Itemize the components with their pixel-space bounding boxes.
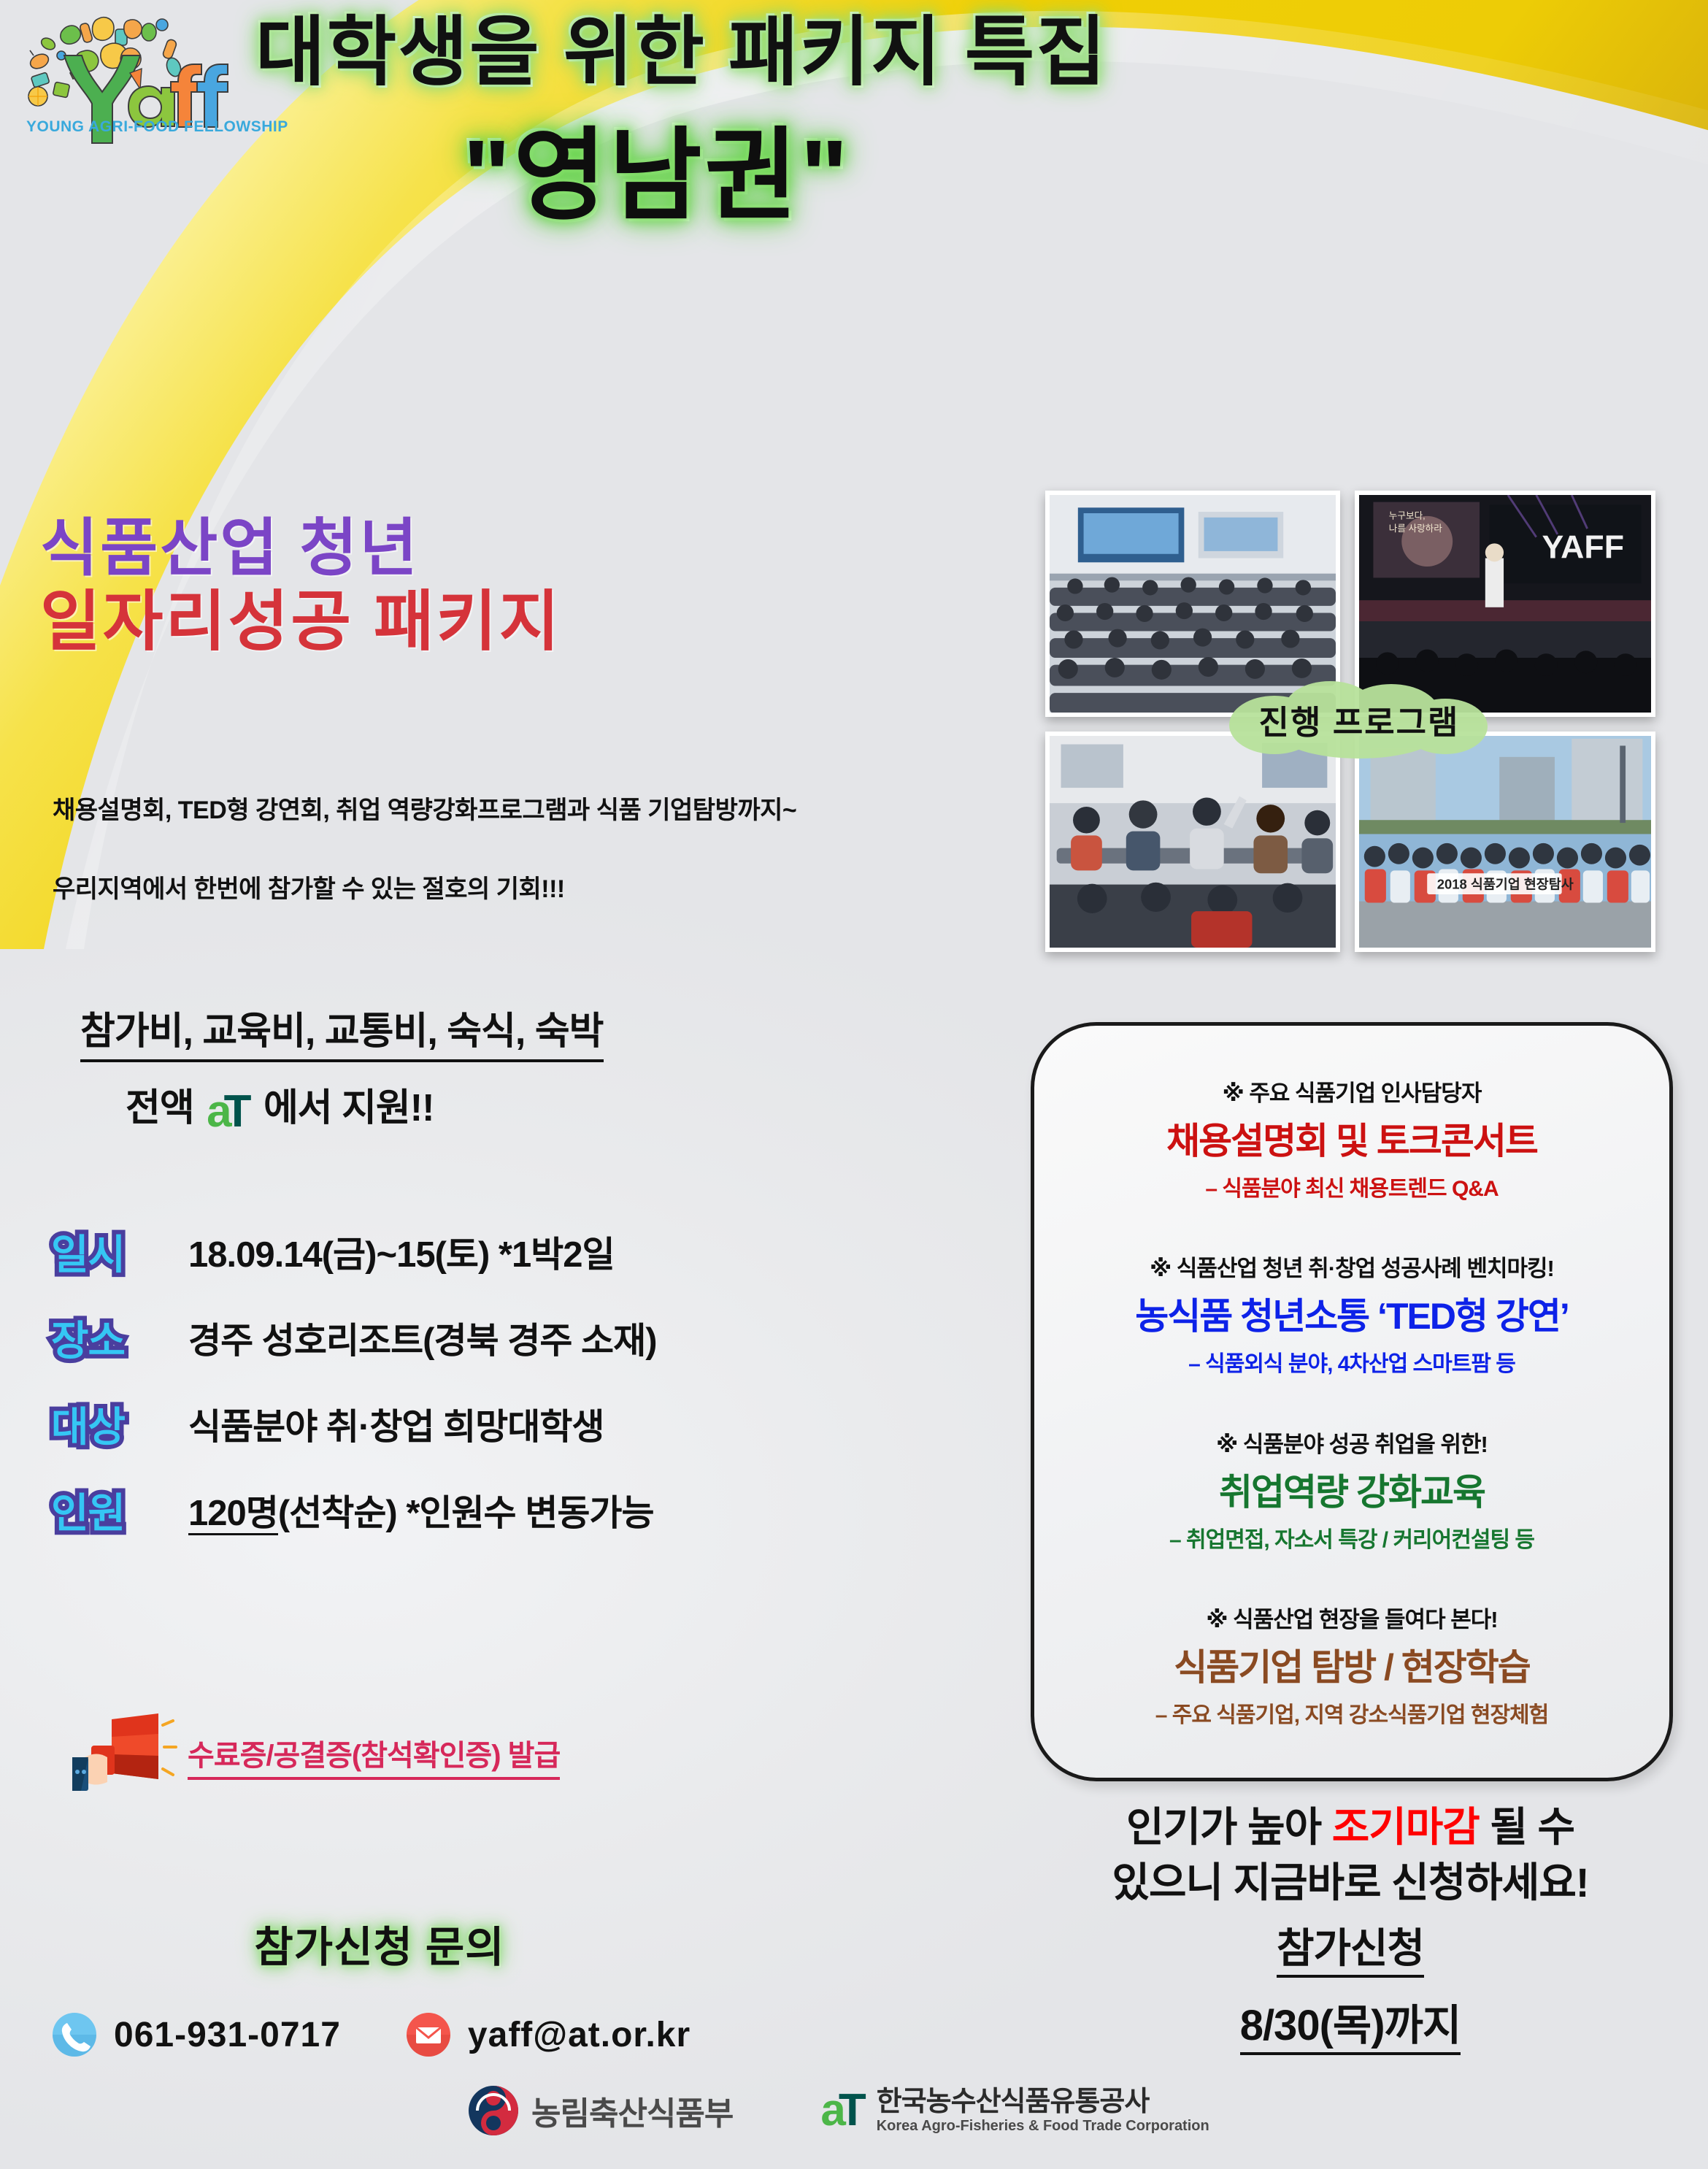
svg-text:YAFF: YAFF bbox=[1542, 530, 1624, 566]
program-sub-4: – 주요 식품기업, 지역 강소식품기업 현장체험 bbox=[1053, 1697, 1650, 1729]
apply-label: 참가신청 bbox=[1277, 1916, 1424, 1978]
deadline-prefix: 인기가 높아 bbox=[1126, 1804, 1332, 1850]
program-box: ※ 주요 식품기업 인사담당자 채용설명회 및 토크콘서트 – 식품분야 최신 … bbox=[1031, 1022, 1673, 1781]
info-row-date: 일시 18.09.14(금)~15(토) *1박2일 bbox=[51, 1208, 927, 1294]
svg-text:누구보다,: 누구보다, bbox=[1389, 511, 1426, 521]
capacity-count: 120명 bbox=[188, 1494, 278, 1535]
certificate-text: 수료증/공결증(참석확인증) 발급 bbox=[188, 1732, 560, 1780]
at-footer-mark: aT bbox=[820, 2088, 866, 2133]
certificate-notice: 수료증/공결증(참석확인증) 발급 bbox=[69, 1712, 560, 1800]
info-label-capacity: 인원 bbox=[51, 1481, 161, 1540]
photo-collage: 누구보다, 나를 사랑하라 YAFF bbox=[1045, 491, 1658, 958]
at-name-english: Korea Agro-Fisheries & Food Trade Corpor… bbox=[877, 2118, 1209, 2135]
apply-deadline-date: 8/30(목)까지 bbox=[1240, 1991, 1461, 2055]
description-line-2: 우리지역에서 한번에 참가할 수 있는 절호의 기회!!! bbox=[53, 869, 565, 905]
deadline-block: 인기가 높아 조기마감 될 수 있으니 지금바로 신청하세요! 참가신청 8/3… bbox=[1007, 1800, 1693, 2055]
program-item-recruitment: ※ 주요 식품기업 인사담당자 채용설명회 및 토크콘서트 – 식품분야 최신 … bbox=[1053, 1075, 1650, 1202]
phone-icon bbox=[51, 2011, 98, 2058]
contact-phone[interactable]: 061-931-0717 bbox=[51, 2011, 341, 2058]
deadline-line-2: 있으니 지금바로 신청하세요! bbox=[1007, 1855, 1693, 1911]
support-costs: 참가비, 교육비, 교통비, 숙식, 숙박 bbox=[80, 1000, 604, 1062]
capacity-note: (선착순) *인원수 변동가능 bbox=[278, 1494, 654, 1533]
info-value-date: 18.09.14(금)~15(토) *1박2일 bbox=[188, 1226, 615, 1278]
program-item-company-visit: ※ 식품산업 현장을 들여다 본다! 식품기업 탐방 / 현장학습 – 주요 식… bbox=[1053, 1601, 1650, 1729]
email-address: yaff@at.or.kr bbox=[468, 2015, 690, 2055]
info-value-capacity: 120명(선착순) *인원수 변동가능 bbox=[188, 1484, 654, 1536]
program-note-1: ※ 주요 식품기업 인사담당자 bbox=[1053, 1075, 1650, 1107]
program-sub-3: – 취업면접, 자소서 특강 / 커리어컨설팅 등 bbox=[1053, 1521, 1650, 1554]
poster-headline: 식품산업 청년 일자리성공 패키지 bbox=[40, 515, 561, 658]
email-icon bbox=[405, 2011, 452, 2058]
program-note-3: ※ 식품분야 성공 취업을 위한! bbox=[1053, 1426, 1650, 1459]
program-note-2: ※ 식품산업 청년 취·창업 성공사례 벤치마킹! bbox=[1053, 1250, 1650, 1283]
footer-logos: 농림축산식품부 aT 한국농수산식품유통공사 Korea Agro-Fisher… bbox=[467, 2084, 1209, 2137]
at-footer-t: T bbox=[839, 2085, 866, 2135]
info-row-capacity: 인원 120명(선착순) *인원수 변동가능 bbox=[51, 1467, 927, 1553]
phone-number: 061-931-0717 bbox=[114, 2015, 341, 2055]
support-prefix: 전액 bbox=[126, 1087, 194, 1129]
collage-badge-label: 진행 프로그램 bbox=[1213, 677, 1505, 761]
at-corporation-logo: aT 한국농수산식품유통공사 Korea Agro-Fisheries & Fo… bbox=[820, 2087, 1209, 2135]
info-label-audience: 대상 bbox=[51, 1394, 161, 1454]
event-info-list: 일시 18.09.14(금)~15(토) *1박2일 장소 경주 성호리조트(경… bbox=[51, 1208, 927, 1553]
svg-text:2018 식품기업 현장탐사: 2018 식품기업 현장탐사 bbox=[1437, 876, 1574, 891]
headline-line-1: 식품산업 청년 bbox=[40, 515, 561, 583]
support-funder: 전액 aT 에서 지원!! bbox=[126, 1077, 920, 1137]
headline-line-2: 일자리성공 패키지 bbox=[40, 587, 561, 658]
ministry-logo: 농림축산식품부 bbox=[467, 2084, 733, 2137]
info-row-audience: 대상 식품분야 취·창업 희망대학생 bbox=[51, 1381, 927, 1467]
at-footer-names: 한국농수산식품유통공사 Korea Agro-Fisheries & Food … bbox=[877, 2087, 1209, 2135]
inquiry-heading: 참가신청 문의 bbox=[139, 1913, 620, 1974]
deadline-line-1: 인기가 높아 조기마감 될 수 bbox=[1007, 1800, 1693, 1855]
info-value-audience: 식품분야 취·창업 희망대학생 bbox=[188, 1398, 604, 1450]
poster-title-sub: "영남권" bbox=[263, 93, 1051, 239]
support-suffix: 에서 지원!! bbox=[263, 1087, 434, 1129]
info-value-venue: 경주 성호리조트(경북 경주 소재) bbox=[188, 1312, 657, 1364]
program-note-4: ※ 식품산업 현장을 들여다 본다! bbox=[1053, 1601, 1650, 1634]
taegeuk-icon bbox=[467, 2084, 520, 2137]
at-logo-inline: aT bbox=[207, 1086, 250, 1137]
at-logo-t: T bbox=[224, 1086, 251, 1137]
info-label-venue: 장소 bbox=[51, 1308, 161, 1367]
description-line-1: 채용설명회, TED형 강연회, 취업 역량강화프로그램과 식품 기업탐방까지~ bbox=[53, 790, 796, 826]
collage-badge: 진행 프로그램 bbox=[1213, 677, 1505, 761]
svg-text:나를 사랑하라: 나를 사랑하라 bbox=[1389, 523, 1443, 534]
deadline-suffix: 될 수 bbox=[1480, 1804, 1574, 1850]
program-sub-1: – 식품분야 최신 채용트렌드 Q&A bbox=[1053, 1170, 1650, 1202]
program-head-1: 채용설명회 및 토크콘서트 bbox=[1053, 1112, 1650, 1164]
program-head-4: 식품기업 탐방 / 현장학습 bbox=[1053, 1638, 1650, 1691]
poster-canvas: YOUNG AGRI-FOOD FELLOWSHIP 대학생을 위한 패키지 특… bbox=[0, 0, 1708, 2169]
deadline-highlight: 조기마감 bbox=[1332, 1804, 1480, 1850]
program-item-ted-talk: ※ 식품산업 청년 취·창업 성공사례 벤치마킹! 농식품 청년소통 ‘TED형… bbox=[1053, 1250, 1650, 1378]
photo-classroom-workshop bbox=[1045, 732, 1340, 952]
contact-list: 061-931-0717 yaff@at.or.kr bbox=[51, 2011, 690, 2058]
info-row-venue: 장소 경주 성호리조트(경북 경주 소재) bbox=[51, 1294, 927, 1381]
support-statement: 참가비, 교육비, 교통비, 숙식, 숙박 전액 aT 에서 지원!! bbox=[80, 1000, 920, 1137]
program-head-2: 농식품 청년소통 ‘TED형 강연’ bbox=[1053, 1287, 1650, 1340]
program-item-job-training: ※ 식품분야 성공 취업을 위한! 취업역량 강화교육 – 취업면접, 자소서 … bbox=[1053, 1426, 1650, 1554]
poster-title-main: 대학생을 위한 패키지 특집 bbox=[255, 13, 1058, 93]
program-head-3: 취업역량 강화교육 bbox=[1053, 1463, 1650, 1516]
program-sub-2: – 식품외식 분야, 4차산업 스마트팜 등 bbox=[1053, 1345, 1650, 1378]
photo-group-field-trip: 2018 식품기업 현장탐사 bbox=[1355, 732, 1655, 952]
info-label-date: 일시 bbox=[51, 1222, 161, 1281]
at-name-korean: 한국농수산식품유통공사 bbox=[877, 2087, 1209, 2119]
megaphone-icon bbox=[69, 1712, 179, 1800]
yaff-tagline: YOUNG AGRI-FOOD FELLOWSHIP bbox=[26, 118, 288, 136]
ministry-name: 농림축산식품부 bbox=[531, 2087, 733, 2134]
contact-email[interactable]: yaff@at.or.kr bbox=[405, 2011, 690, 2058]
